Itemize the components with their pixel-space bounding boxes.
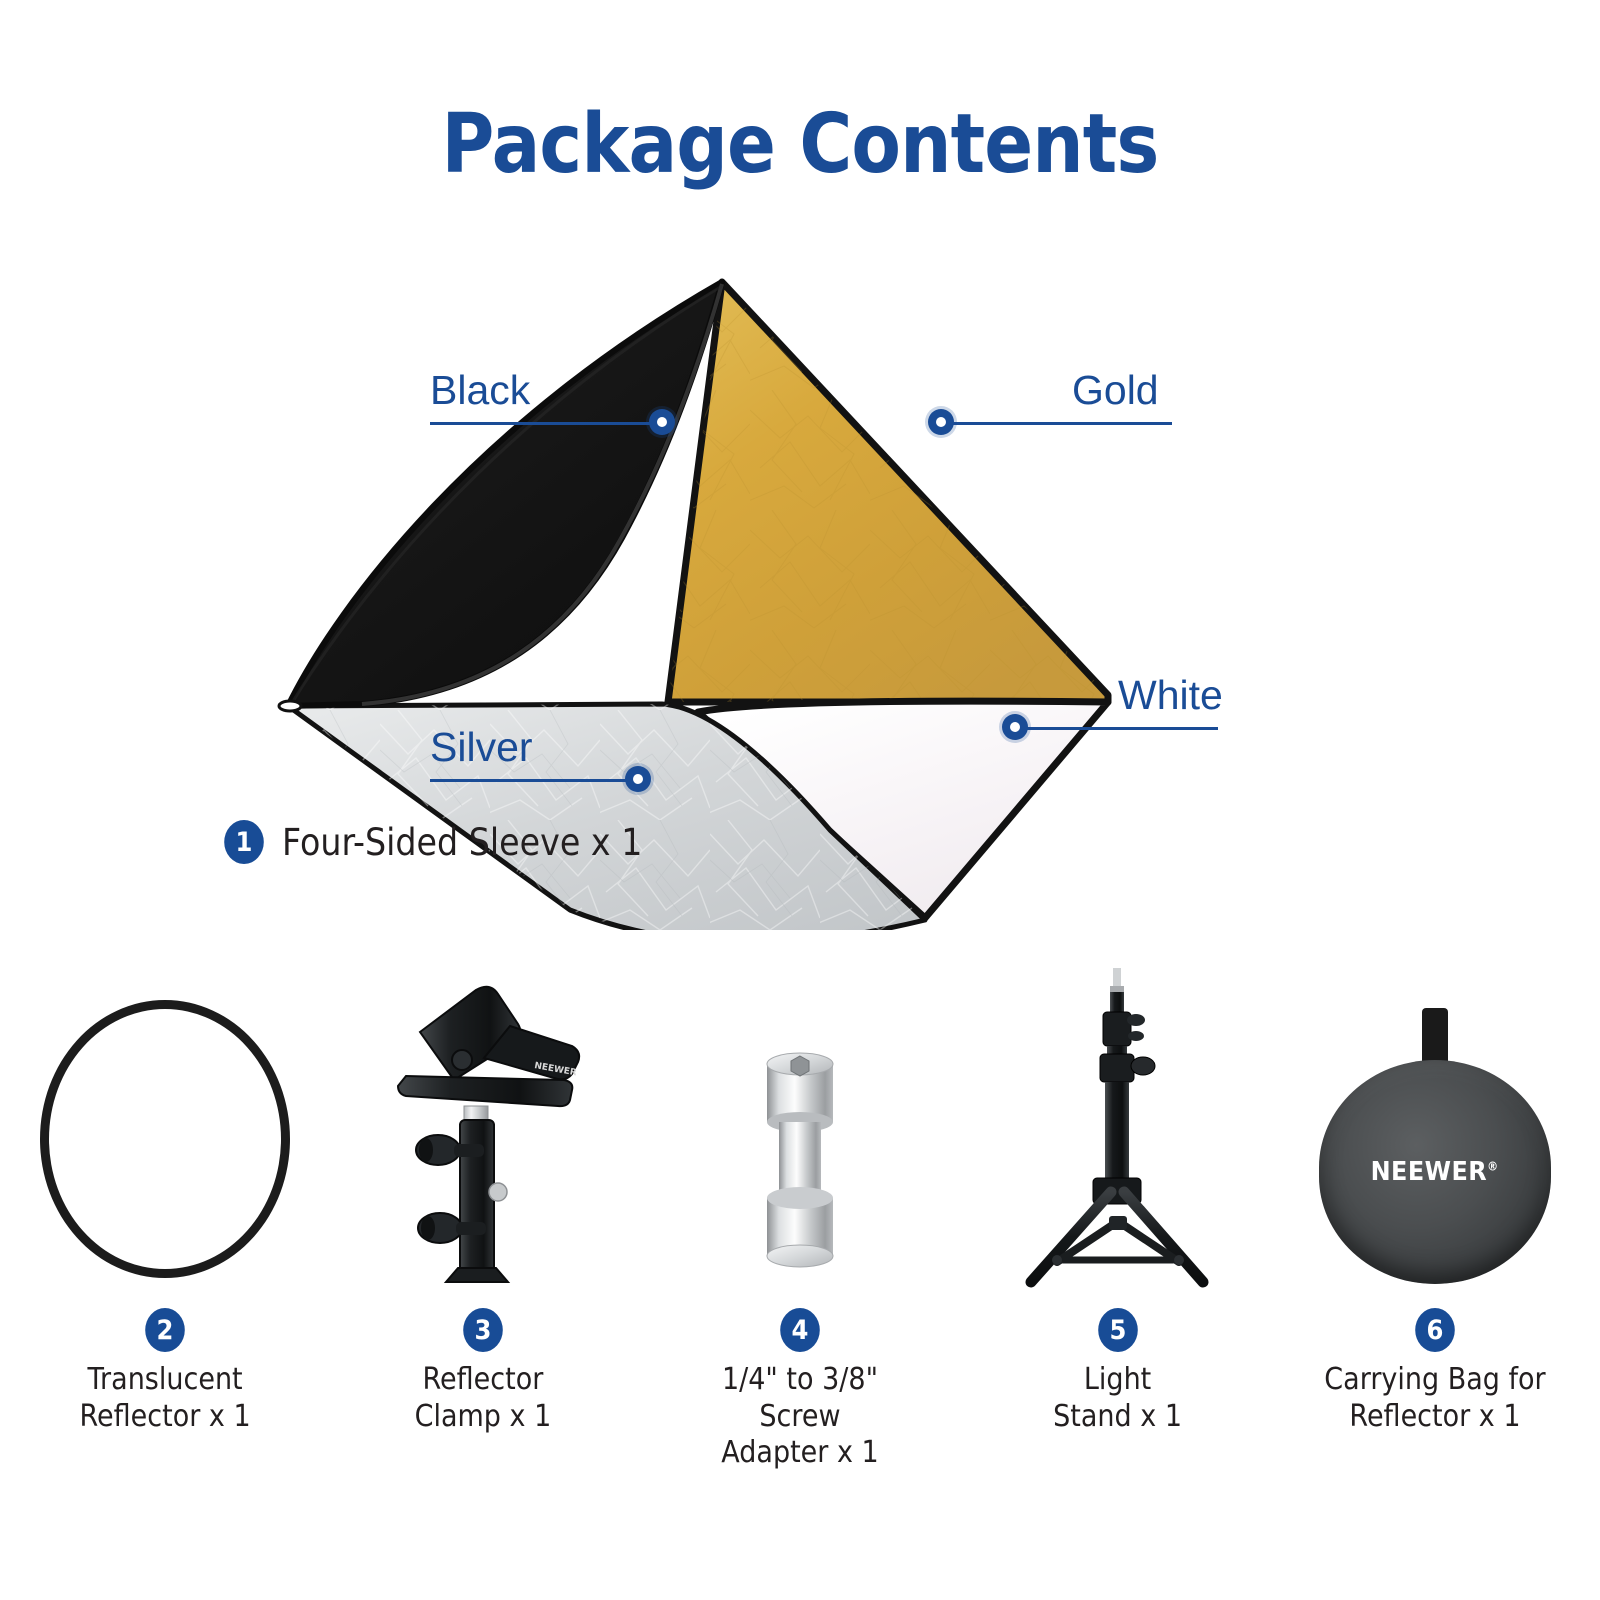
- item-label-2: Translucent Reflector x 1: [79, 1362, 250, 1435]
- light-stand-brace-collar: [1109, 1216, 1127, 1230]
- reflector-clamp-art: NEEWER: [358, 960, 608, 1290]
- item-label-5: Light Stand x 1: [1053, 1362, 1182, 1435]
- package-items-row: 2 Translucent Reflector x 1: [0, 960, 1600, 1520]
- callout-label-gold: Gold: [1072, 370, 1159, 411]
- screw-adapter-art: [675, 960, 925, 1290]
- package-item-3: NEEWER: [358, 960, 608, 1435]
- item-badge-3: 3: [463, 1308, 503, 1352]
- package-item-4: 4 1/4" to 3/8" Screw Adapter x 1: [675, 960, 925, 1472]
- callout-line-silver: [430, 779, 638, 782]
- light-stand-legs: [1031, 1192, 1203, 1290]
- callout-line-white: [1022, 727, 1218, 730]
- neewer-brand-logo: NEEWER®: [1371, 1157, 1499, 1187]
- item-label-6: Carrying Bag for Reflector x 1: [1324, 1362, 1545, 1435]
- callout-label-white: White: [1118, 675, 1223, 716]
- light-stand-mid-collar: [1100, 1054, 1155, 1082]
- clamp-upper-jaw: NEEWER: [420, 987, 579, 1080]
- item-badge-2: 2: [145, 1308, 185, 1352]
- clamp-side-screw: [489, 1183, 507, 1201]
- light-stand-lower-pole: [1105, 1082, 1129, 1182]
- clamp-lower-jaw: [398, 1076, 572, 1106]
- callout-line-black: [430, 422, 662, 425]
- sleeve-face-gold: [668, 282, 1108, 702]
- translucent-reflector-disc: [40, 1000, 290, 1278]
- translucent-reflector-art: [40, 960, 290, 1290]
- light-stand-spigot: [1110, 968, 1124, 994]
- carrying-bag-body: NEEWER®: [1319, 1060, 1551, 1284]
- callout-line-gold: [948, 422, 1172, 425]
- registered-trademark-icon: ®: [1488, 1159, 1500, 1173]
- item-label-4: 1/4" to 3/8" Screw Adapter x 1: [688, 1362, 913, 1472]
- item-badge-1: 1: [224, 820, 264, 864]
- light-stand-art: [993, 960, 1243, 1290]
- light-stand-upper-collar: [1103, 1012, 1145, 1046]
- package-item-6: NEEWER® 6 Carrying Bag for Reflector x 1: [1310, 960, 1560, 1435]
- item-badge-4: 4: [780, 1308, 820, 1352]
- screw-hex-socket: [791, 1056, 809, 1076]
- sleeve-face-black: [288, 282, 722, 706]
- screw-adapter-body: [767, 1053, 833, 1267]
- hero-caption-text: Four-Sided Sleeve x 1: [282, 821, 642, 864]
- callout-dot-gold: [928, 409, 954, 435]
- item-badge-6: 6: [1415, 1308, 1455, 1352]
- item-badge-5: 5: [1098, 1308, 1138, 1352]
- clamp-base-foot: [446, 1268, 508, 1282]
- clamp-pivot-bolt: [452, 1050, 472, 1070]
- callout-dot-black: [649, 409, 675, 435]
- callout-dot-white: [1002, 714, 1028, 740]
- callout-label-black: Black: [430, 370, 530, 411]
- callout-dot-silver: [625, 766, 651, 792]
- page-title: Package Contents: [96, 104, 1504, 186]
- callout-label-silver: Silver: [430, 727, 533, 768]
- neewer-wordmark: NEEWER: [1371, 1157, 1488, 1187]
- carrying-bag-art: NEEWER®: [1310, 960, 1560, 1290]
- hero-item-caption: 1 Four-Sided Sleeve x 1: [222, 820, 682, 864]
- package-item-2: 2 Translucent Reflector x 1: [40, 960, 290, 1435]
- sleeve-corner-grommet: [279, 701, 301, 711]
- package-item-5: 5 Light Stand x 1: [993, 960, 1243, 1435]
- item-label-3: Reflector Clamp x 1: [414, 1362, 551, 1435]
